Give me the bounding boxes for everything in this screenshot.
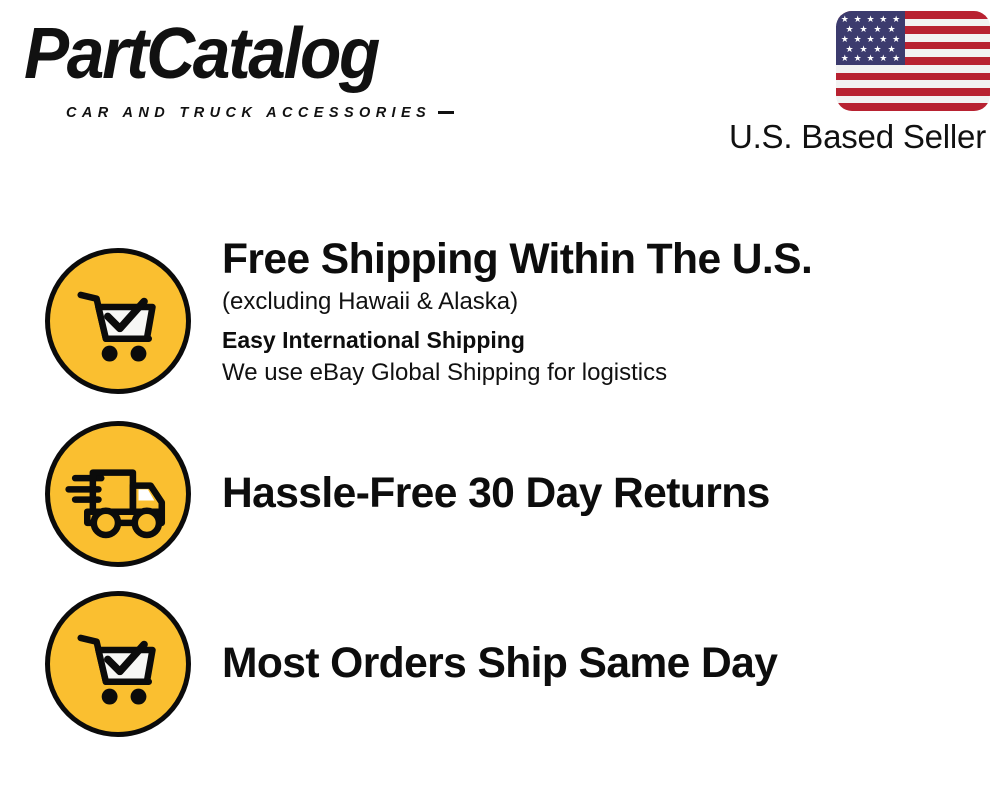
shopping-cart-check-icon [45, 591, 191, 737]
feature-row: Hassle-Free 30 Day Returns [0, 420, 1000, 572]
feature-headline: Hassle-Free 30 Day Returns [222, 468, 972, 518]
feature-note: (excluding Hawaii & Alaska) [222, 286, 980, 318]
shopping-cart-check-icon [45, 248, 191, 394]
feature-list: Free Shipping Within The U.S. (excluding… [0, 0, 1000, 800]
feature-headline: Most Orders Ship Same Day [222, 638, 972, 688]
feature-text-block: Free Shipping Within The U.S. (excluding… [222, 234, 980, 389]
delivery-truck-icon [45, 421, 191, 567]
feature-text-block: Most Orders Ship Same Day [222, 638, 980, 688]
feature-sub-text: We use eBay Global Shipping for logistic… [222, 357, 980, 389]
feature-row: Free Shipping Within The U.S. (excluding… [0, 234, 1000, 410]
feature-sub-heading: Easy International Shipping [222, 324, 980, 356]
feature-headline: Free Shipping Within The U.S. [222, 234, 972, 284]
feature-row: Most Orders Ship Same Day [0, 590, 1000, 742]
promo-banner: PartCatalog CAR AND TRUCK ACCESSORIES [0, 0, 1000, 800]
feature-text-block: Hassle-Free 30 Day Returns [222, 468, 980, 518]
